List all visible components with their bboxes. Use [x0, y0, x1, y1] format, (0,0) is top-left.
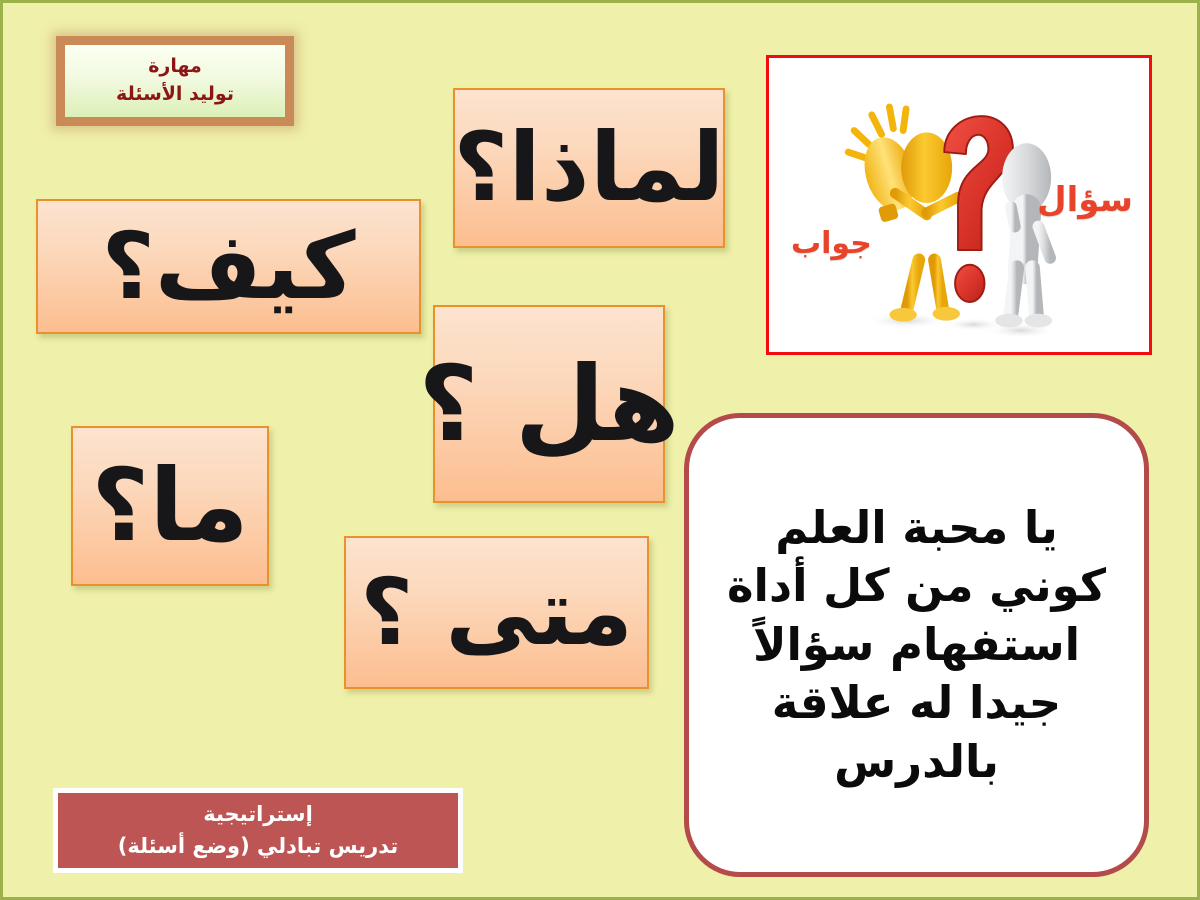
question-card-why[interactable]: لماذا؟ [453, 88, 725, 248]
skill-badge: مهارة توليد الأسئلة [56, 36, 294, 126]
strategy-banner-label: إستراتيجية تدريس تبادلي (وضع أسئلة) [118, 799, 398, 862]
question-card-is[interactable]: هل ؟ [433, 305, 665, 503]
question-card-how[interactable]: كيف؟ [36, 199, 421, 334]
skill-badge-label: مهارة توليد الأسئلة [116, 53, 234, 108]
question-card-what-label: ما؟ [91, 456, 248, 556]
illustration-answer-label: جواب [791, 226, 872, 261]
strategy-banner: إستراتيجية تدريس تبادلي (وضع أسئلة) [53, 788, 463, 873]
question-card-why-label: لماذا؟ [453, 121, 724, 216]
question-card-when[interactable]: متى ؟ [344, 536, 649, 689]
message-card: يا محبة العلم كوني من كل أداة استفهام سؤ… [684, 413, 1149, 877]
question-card-is-label: هل ؟ [418, 352, 679, 456]
question-card-how-label: كيف؟ [102, 221, 356, 313]
question-answer-illustration: جواب سؤال [766, 55, 1152, 355]
illustration-question-label: سؤال [1037, 180, 1133, 220]
slide-canvas: مهارة توليد الأسئلة لماذا؟ كيف؟ هل ؟ ما؟… [0, 0, 1200, 900]
question-card-what[interactable]: ما؟ [71, 426, 269, 586]
message-card-text: يا محبة العلم كوني من كل أداة استفهام سؤ… [715, 499, 1118, 792]
question-card-when-label: متى ؟ [360, 567, 633, 659]
